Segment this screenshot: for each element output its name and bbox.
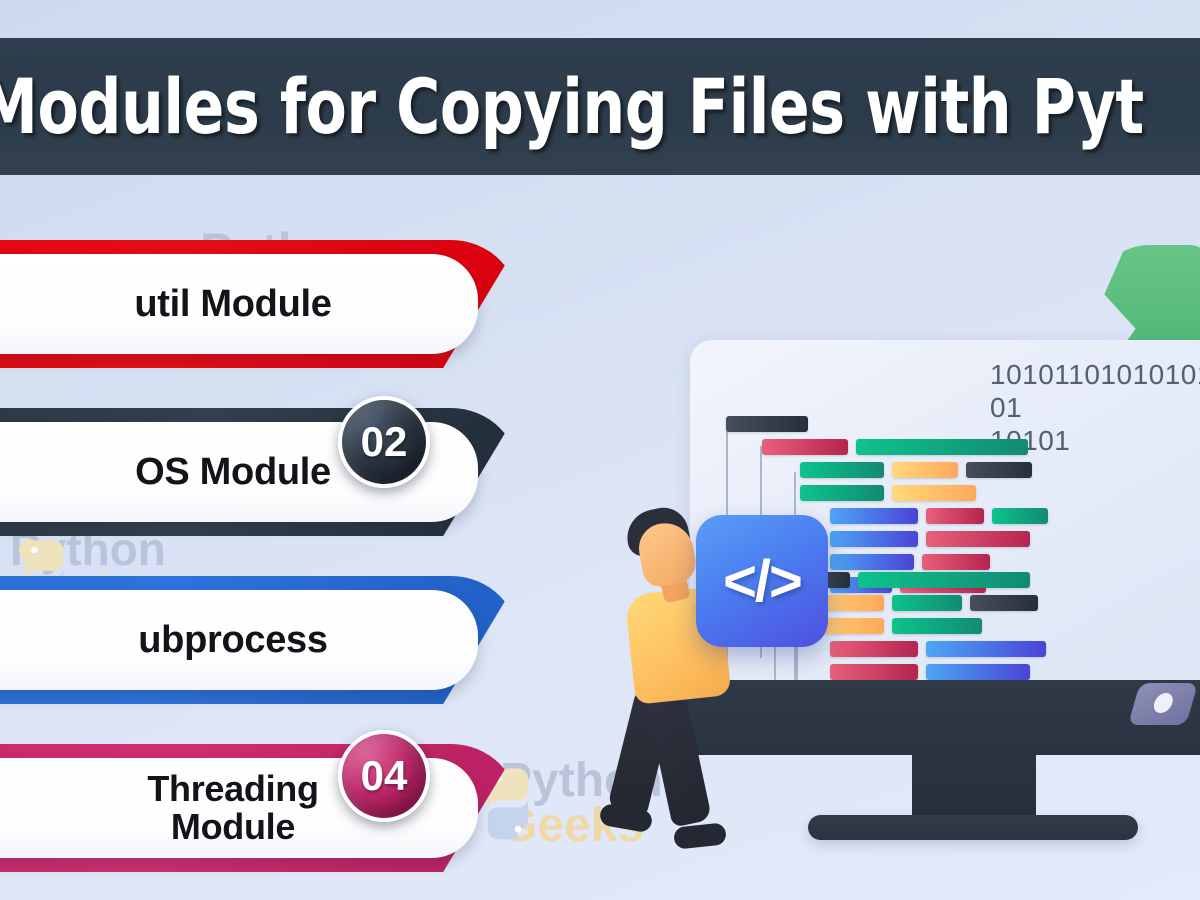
code-line <box>726 416 1048 432</box>
code-line <box>830 508 1048 524</box>
code-token <box>926 508 984 524</box>
card-label: OS Module <box>45 453 331 491</box>
code-token <box>970 595 1038 611</box>
code-token <box>856 439 1028 455</box>
card-label: Threading Module <box>57 770 318 846</box>
code-line <box>830 641 1046 657</box>
code-token <box>992 508 1048 524</box>
monitor-stand-foot <box>808 815 1138 840</box>
code-token <box>830 508 918 524</box>
person-illustration: </> <box>600 495 800 855</box>
module-card-threading[interactable]: Threading Module 04 <box>0 744 520 872</box>
code-token <box>892 618 982 634</box>
code-token <box>830 531 918 547</box>
code-token <box>830 554 914 570</box>
code-token <box>726 416 808 432</box>
code-brackets-icon: </> <box>696 515 828 647</box>
illustration-scene: 10101101010101 01 10101 </> <box>560 175 1200 900</box>
module-card-shutil[interactable]: util Module <box>0 240 520 368</box>
code-token <box>926 664 1030 680</box>
code-token <box>830 664 918 680</box>
card-label-line-1: Threading <box>147 768 318 809</box>
card-label: ubprocess <box>48 621 327 659</box>
card-plate: ubprocess <box>0 590 478 690</box>
module-card-os[interactable]: OS Module 02 <box>0 408 520 536</box>
code-token <box>926 641 1046 657</box>
code-token <box>858 572 1030 588</box>
module-card-list: util Module OS Module 02 ubprocess Threa… <box>0 180 560 880</box>
binary-line-1: 10101101010101 01 <box>990 358 1200 424</box>
code-line <box>800 462 1048 478</box>
code-token <box>926 531 1030 547</box>
page-title: Modules for Copying Files with Pyt <box>0 62 1144 151</box>
code-token <box>800 485 884 501</box>
code-token <box>830 641 918 657</box>
code-token <box>892 485 976 501</box>
code-line <box>800 572 1046 588</box>
card-number-badge: 02 <box>338 396 430 488</box>
code-token <box>762 439 848 455</box>
code-token <box>922 554 990 570</box>
code-line <box>762 439 1048 455</box>
code-line <box>830 664 1046 680</box>
code-line <box>800 485 1048 501</box>
card-number-badge: 04 <box>338 730 430 822</box>
module-card-subprocess[interactable]: ubprocess <box>0 576 520 704</box>
person-shoe-front <box>673 822 727 849</box>
card-label: util Module <box>44 285 331 323</box>
code-token <box>966 462 1032 478</box>
code-line <box>830 554 1048 570</box>
code-line <box>830 531 1048 547</box>
code-token <box>892 595 962 611</box>
mouse-wheel <box>1151 693 1175 713</box>
card-label-line-2: Module <box>171 806 295 847</box>
title-bar: Modules for Copying Files with Pyt <box>0 38 1200 175</box>
code-line <box>800 595 1046 611</box>
code-token <box>800 462 884 478</box>
code-line <box>800 618 1046 634</box>
card-plate: util Module <box>0 254 478 354</box>
code-token <box>892 462 958 478</box>
